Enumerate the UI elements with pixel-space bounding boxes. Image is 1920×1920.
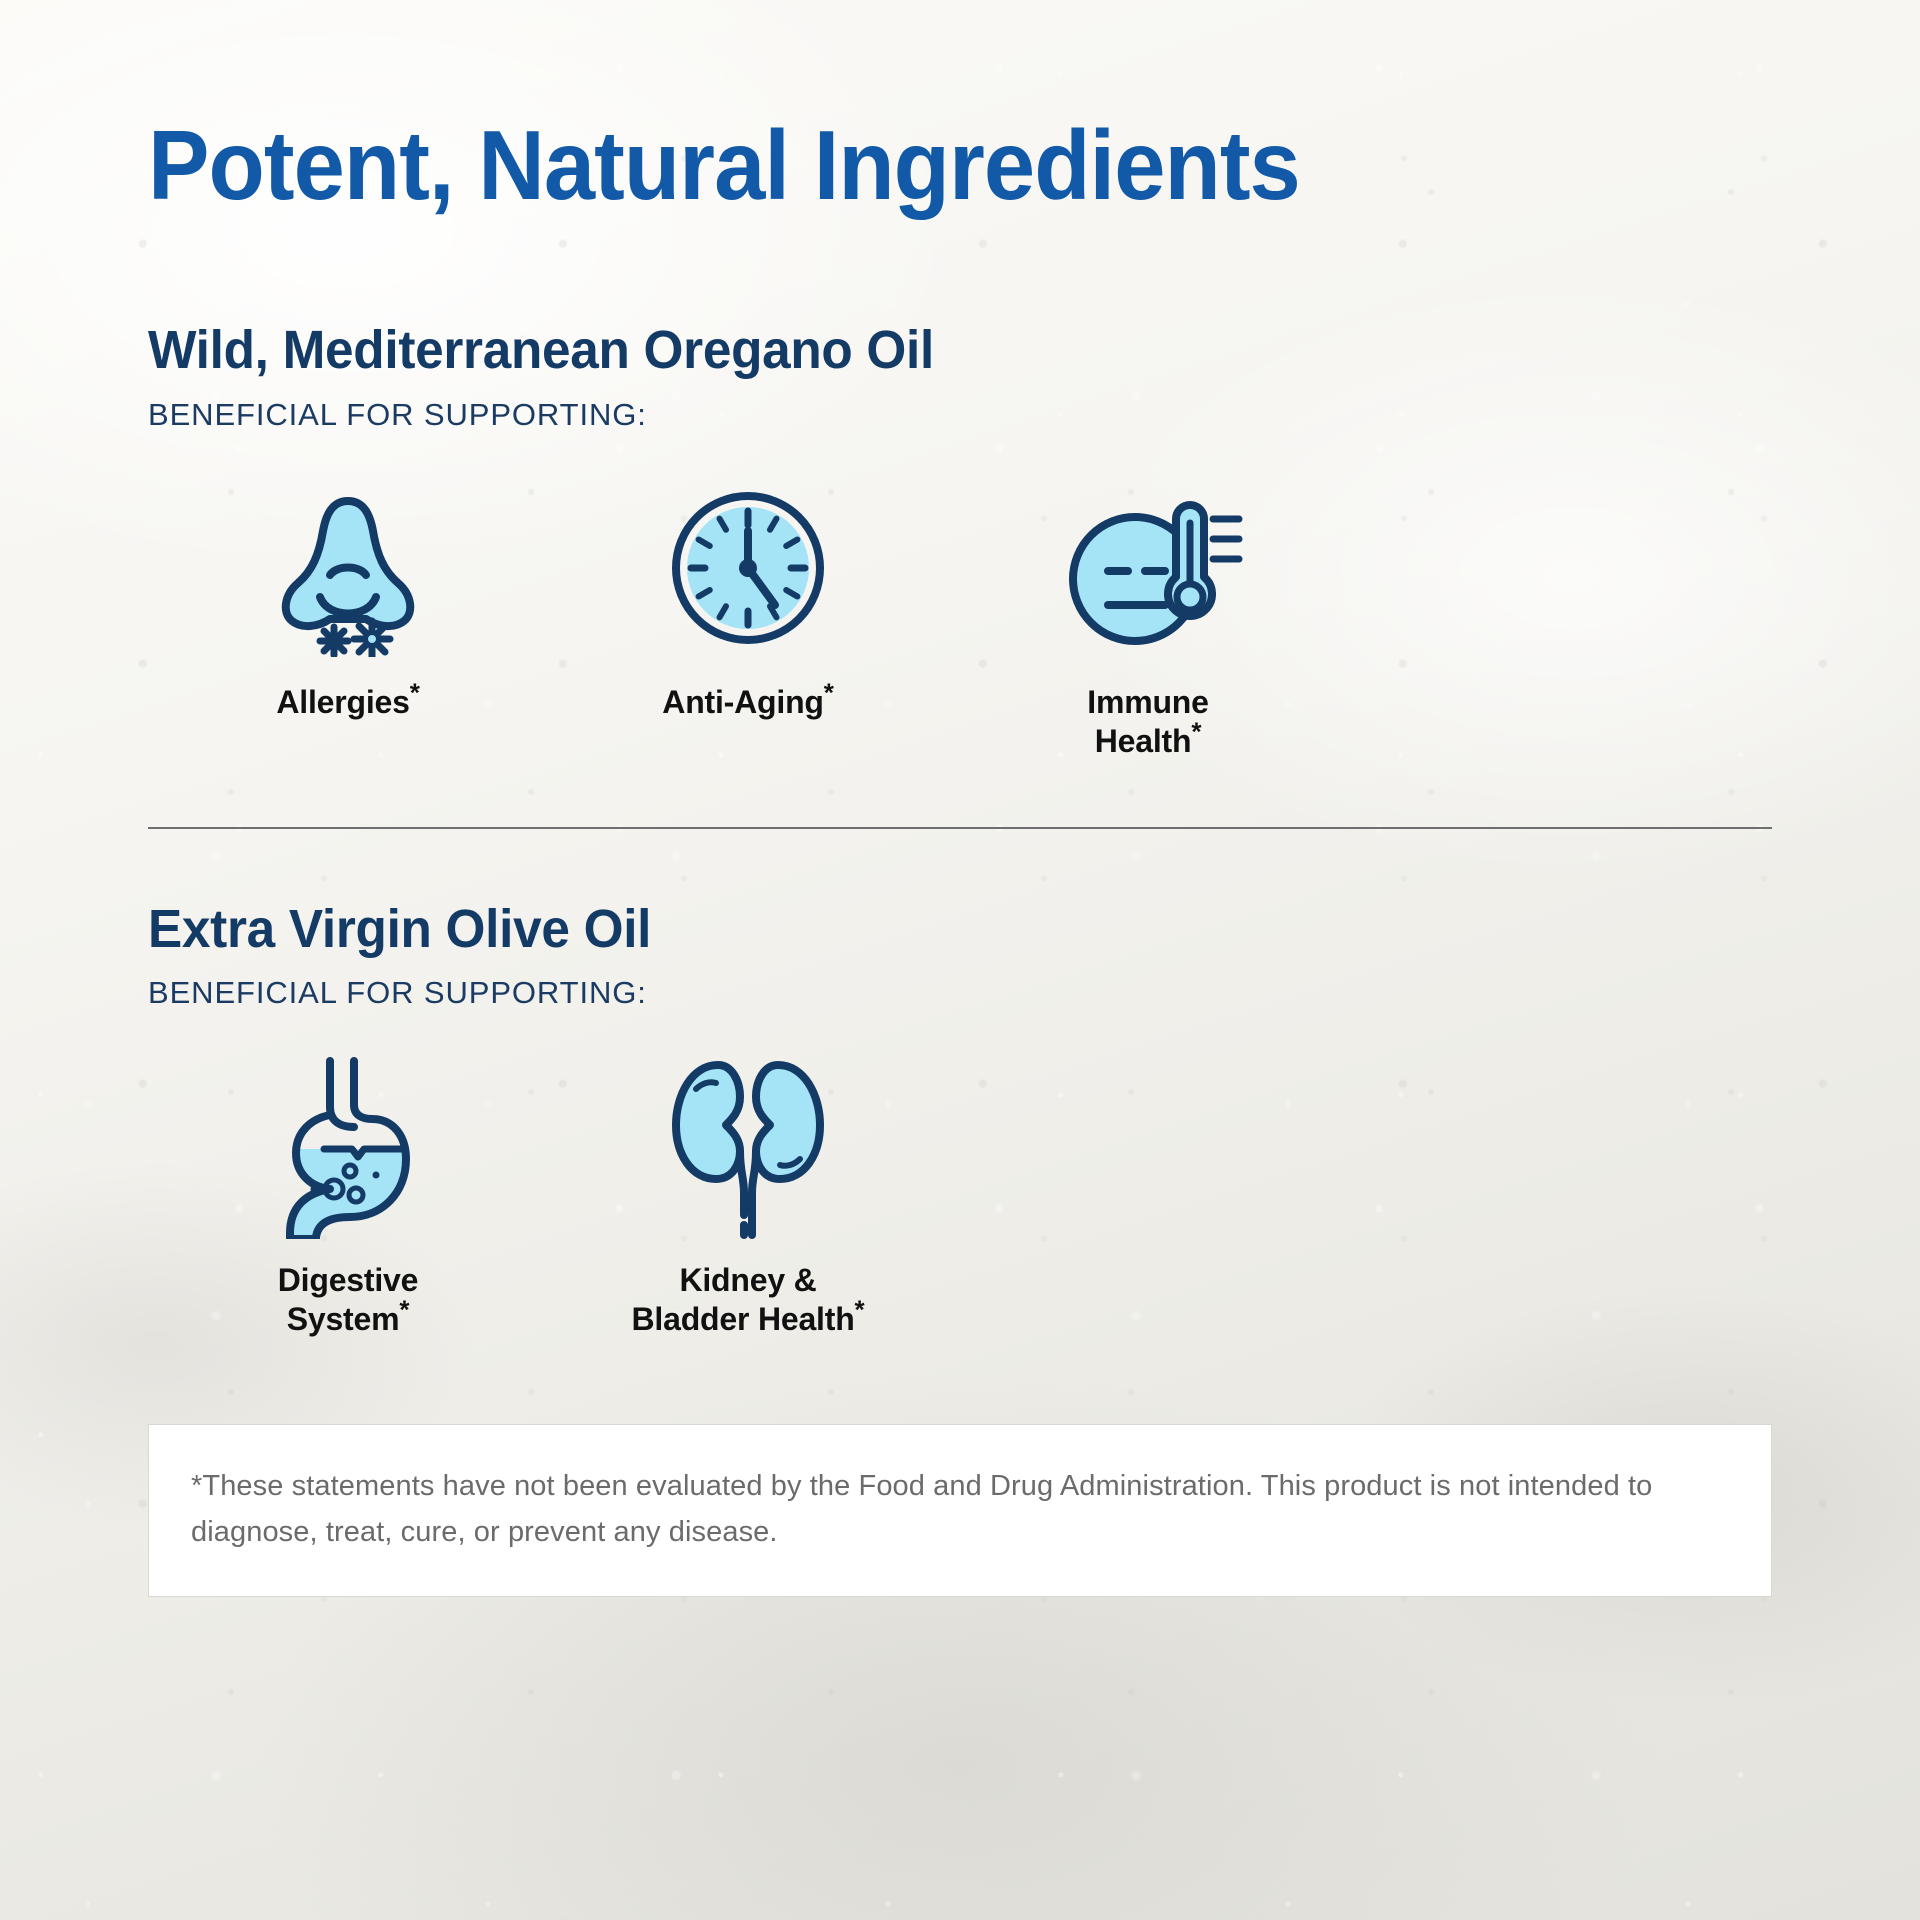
benefit-anti-aging: Anti-Aging*: [548, 479, 948, 722]
section-title-oregano: Wild, Mediterranean Oregano Oil: [148, 322, 1691, 379]
stomach-icon: [258, 1057, 438, 1235]
asterisk-marker: *: [855, 1295, 865, 1325]
benefit-immune-health: ImmuneHealth*: [948, 479, 1348, 761]
benefit-label-kidney-bladder-health: Kidney &Bladder Health*: [632, 1261, 865, 1339]
disclaimer-text: *These statements have not been evaluate…: [191, 1463, 1729, 1557]
section-divider: [148, 827, 1772, 829]
benefit-label-anti-aging: Anti-Aging*: [662, 683, 833, 722]
content-container: Potent, Natural Ingredients Wild, Medite…: [0, 0, 1920, 1597]
section-olive-oil: Extra Virgin Olive Oil BENEFICIAL FOR SU…: [148, 901, 1772, 1340]
benefit-allergies: Allergies*: [148, 479, 548, 722]
asterisk-marker: *: [399, 1295, 409, 1325]
asterisk-marker: *: [824, 677, 834, 707]
benefits-list-olive: DigestiveSystem*: [148, 1057, 1772, 1339]
benefit-label-immune-health: ImmuneHealth*: [1087, 683, 1209, 761]
section-oregano-oil: Wild, Mediterranean Oregano Oil BENEFICI…: [148, 322, 1772, 761]
page-title: Potent, Natural Ingredients: [148, 0, 1675, 214]
benefit-digestive-system: DigestiveSystem*: [148, 1057, 548, 1339]
benefits-list-oregano: Allergies*: [148, 479, 1772, 761]
section-subtitle-oregano: BENEFICIAL FOR SUPPORTING:: [148, 397, 1772, 433]
benefit-label-allergies: Allergies*: [276, 683, 419, 722]
sick-face-thermometer-icon: [1053, 479, 1243, 657]
clock-icon: [663, 479, 833, 657]
kidneys-icon: [648, 1057, 848, 1235]
asterisk-marker: *: [1191, 716, 1201, 746]
disclaimer-box: *These statements have not been evaluate…: [148, 1424, 1772, 1598]
infographic-canvas: Potent, Natural Ingredients Wild, Medite…: [0, 0, 1920, 1920]
section-subtitle-olive: BENEFICIAL FOR SUPPORTING:: [148, 975, 1772, 1011]
asterisk-marker: *: [410, 677, 420, 707]
benefit-label-digestive-system: DigestiveSystem*: [278, 1261, 418, 1339]
section-title-olive: Extra Virgin Olive Oil: [148, 901, 1691, 958]
benefit-kidney-bladder-health: Kidney &Bladder Health*: [548, 1057, 948, 1339]
nose-pollen-icon: [258, 479, 438, 657]
